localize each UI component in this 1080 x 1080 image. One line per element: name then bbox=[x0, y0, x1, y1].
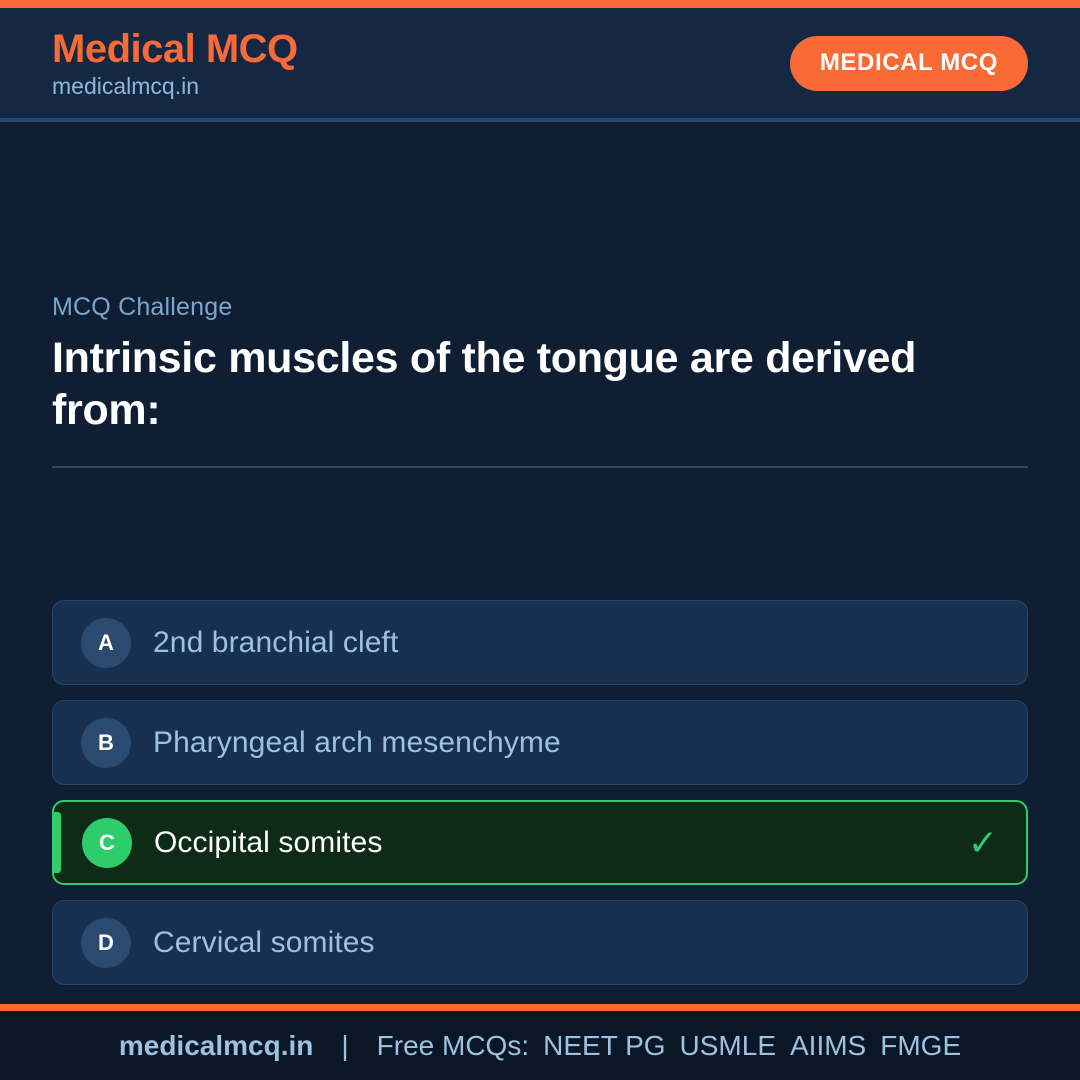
option-a[interactable]: A 2nd branchial cleft ✓ bbox=[52, 600, 1028, 685]
header-badge: MEDICAL MCQ bbox=[790, 36, 1028, 91]
main-content: MCQ Challenge Intrinsic muscles of the t… bbox=[0, 122, 1080, 1004]
footer-site-url: medicalmcq.in bbox=[119, 1030, 314, 1062]
option-label: Occipital somites bbox=[154, 826, 382, 860]
mcq-card: Medical MCQ medicalmcq.in MEDICAL MCQ MC… bbox=[0, 0, 1080, 1080]
eyebrow-label: MCQ Challenge bbox=[52, 293, 1028, 322]
option-b[interactable]: B Pharyngeal arch mesenchyme ✓ bbox=[52, 700, 1028, 785]
question-block: MCQ Challenge Intrinsic muscles of the t… bbox=[52, 293, 1028, 468]
top-accent-bar bbox=[0, 0, 1080, 8]
option-label: 2nd branchial cleft bbox=[153, 626, 398, 660]
footer-exam-usmle: USMLE bbox=[680, 1030, 776, 1062]
option-d[interactable]: D Cervical somites ✓ bbox=[52, 900, 1028, 985]
brand-title: Medical MCQ bbox=[52, 29, 298, 69]
question-divider bbox=[52, 466, 1028, 468]
footer-content: medicalmcq.in | Free MCQs: NEET PG USMLE… bbox=[119, 1030, 961, 1062]
footer-label: Free MCQs: bbox=[377, 1030, 529, 1062]
footer-exam-neet-pg: NEET PG bbox=[543, 1030, 665, 1062]
options-list: A 2nd branchial cleft ✓ B Pharyngeal arc… bbox=[52, 600, 1028, 985]
footer-separator: | bbox=[341, 1030, 348, 1062]
brand: Medical MCQ medicalmcq.in bbox=[52, 29, 298, 98]
question-text: Intrinsic muscles of the tongue are deri… bbox=[52, 332, 982, 437]
check-icon: ✓ bbox=[968, 825, 998, 861]
correct-accent-bar bbox=[54, 812, 61, 873]
footer-exam-aiims: AIIMS bbox=[790, 1030, 866, 1062]
option-label: Pharyngeal arch mesenchyme bbox=[153, 726, 561, 760]
option-letter-badge: D bbox=[81, 918, 131, 968]
option-letter-badge: C bbox=[82, 818, 132, 868]
option-letter-badge: B bbox=[81, 718, 131, 768]
brand-url: medicalmcq.in bbox=[52, 75, 298, 98]
footer-exam-fmge: FMGE bbox=[880, 1030, 961, 1062]
option-c[interactable]: C Occipital somites ✓ bbox=[52, 800, 1028, 885]
option-label: Cervical somites bbox=[153, 926, 375, 960]
option-letter-badge: A bbox=[81, 618, 131, 668]
page-footer: medicalmcq.in | Free MCQs: NEET PG USMLE… bbox=[0, 1004, 1080, 1080]
page-header: Medical MCQ medicalmcq.in MEDICAL MCQ bbox=[0, 8, 1080, 122]
